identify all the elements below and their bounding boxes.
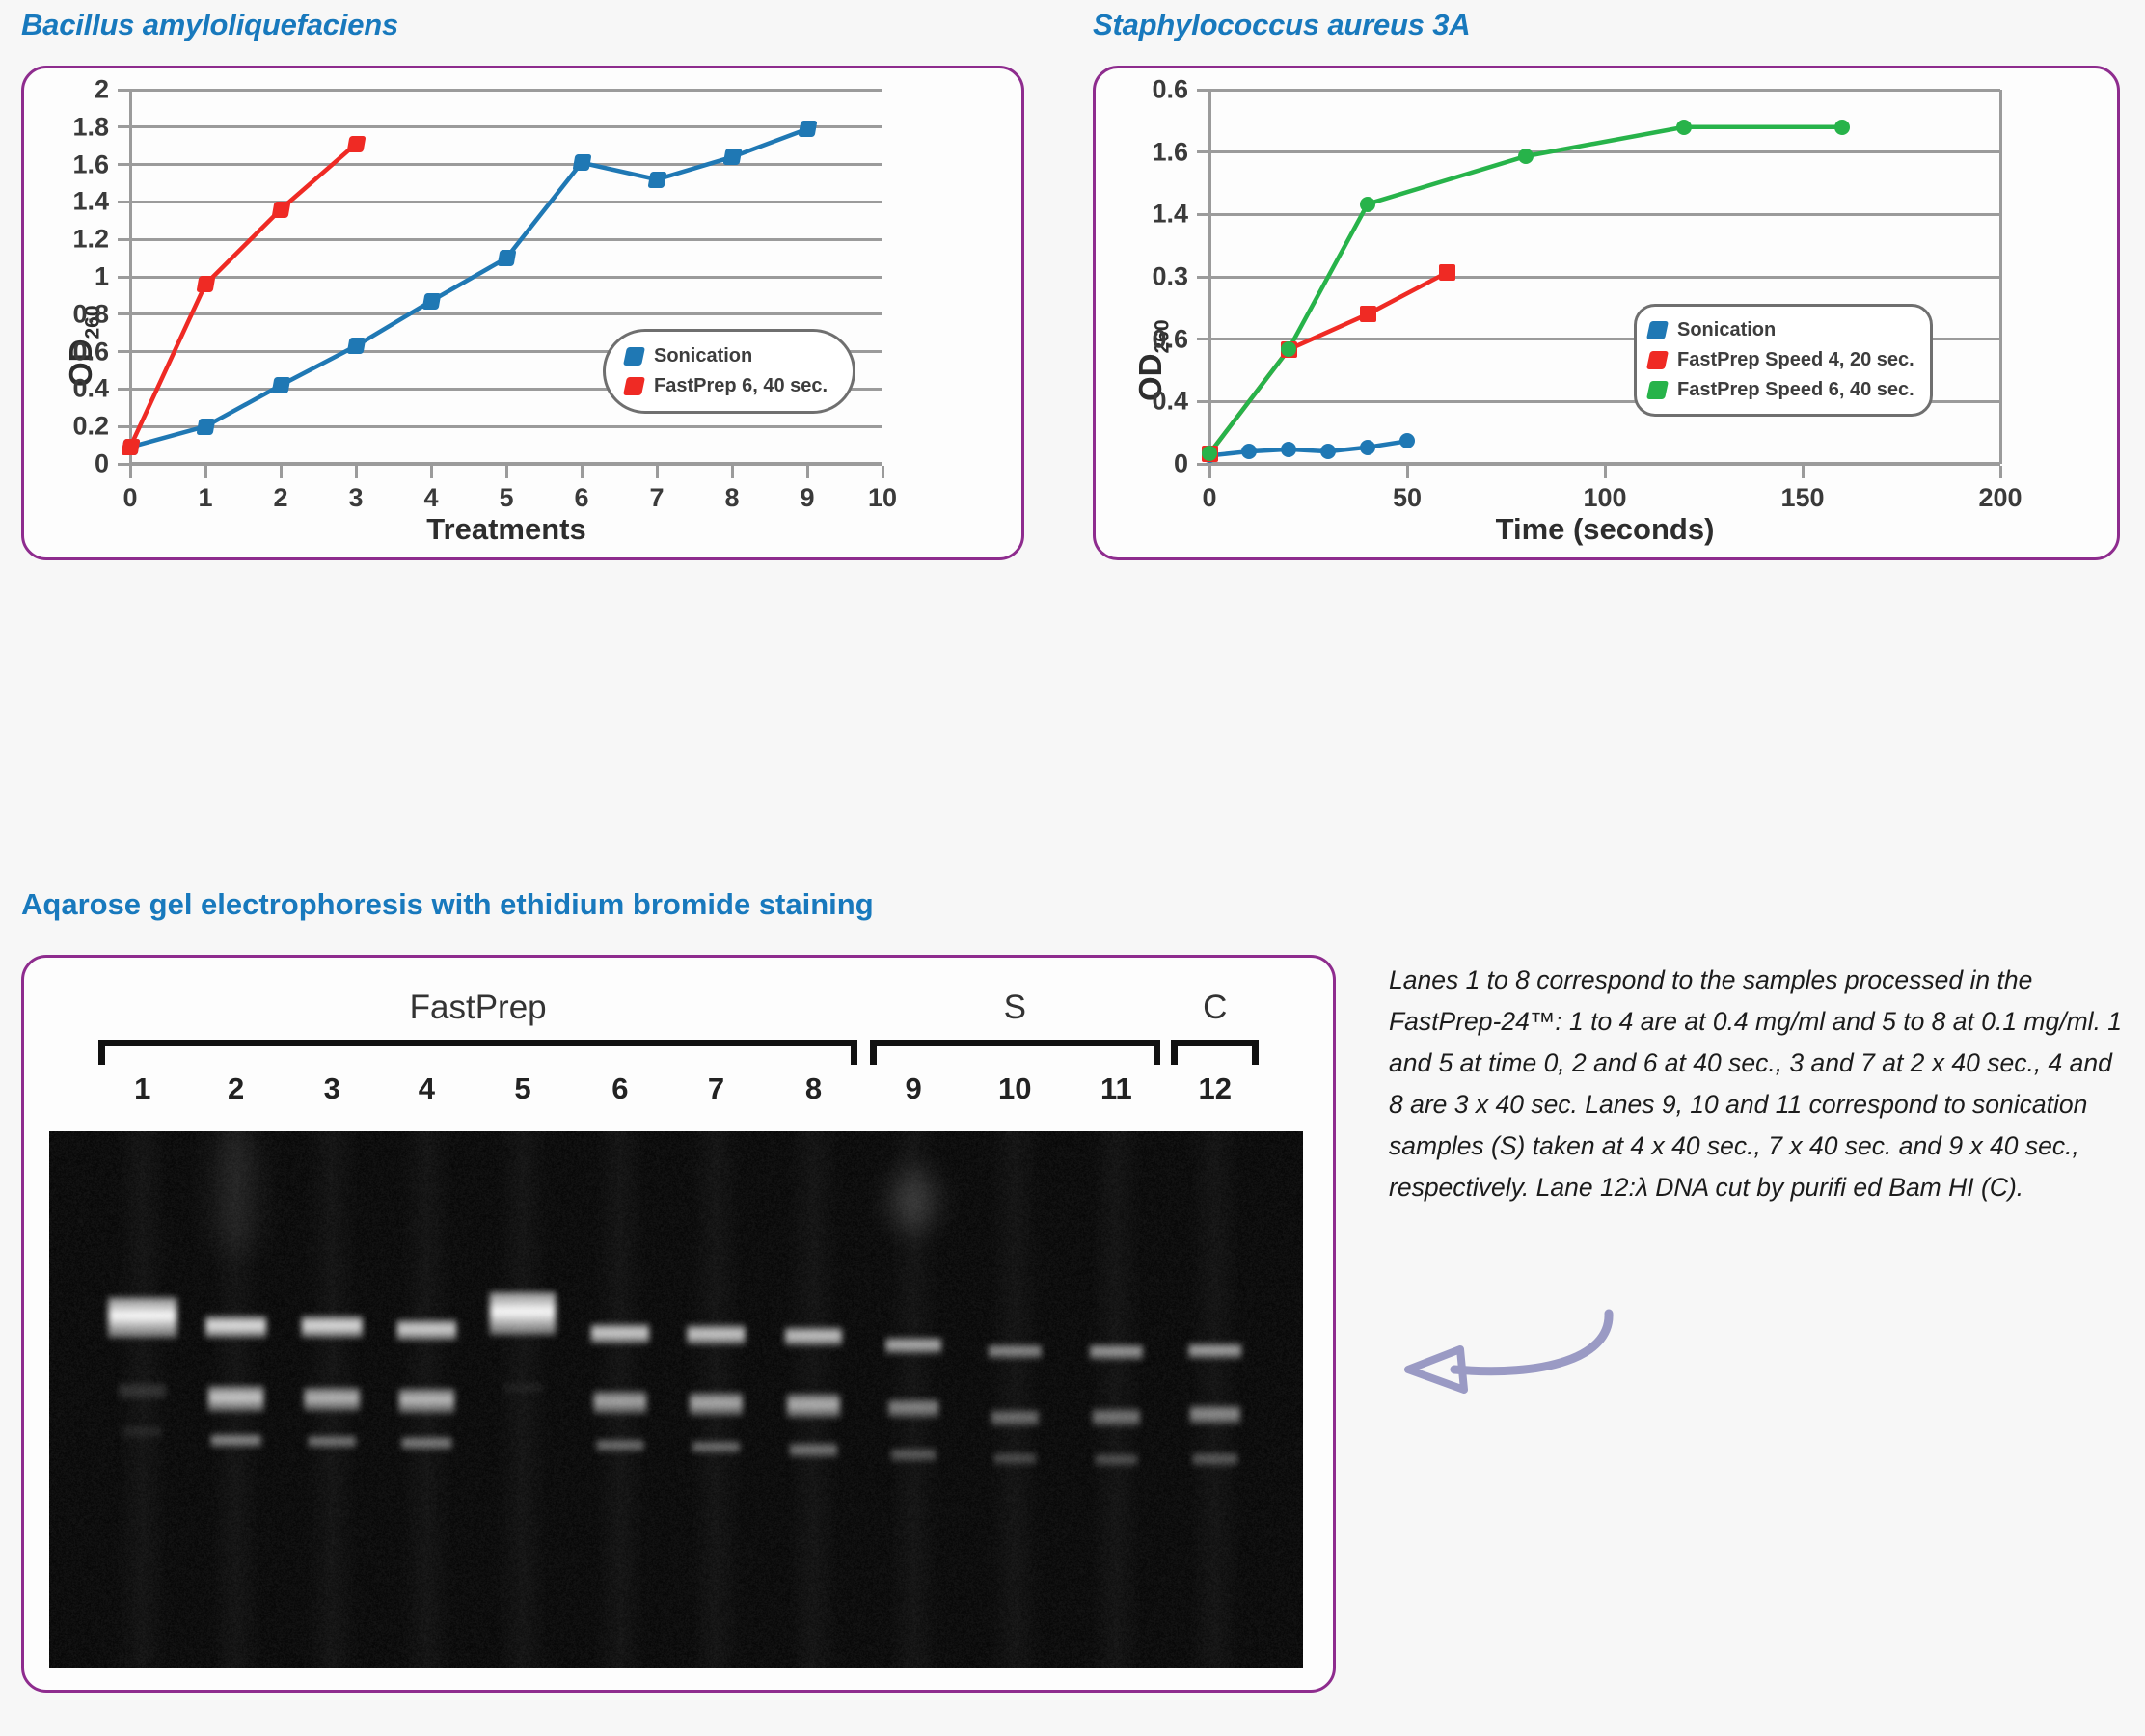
plot-area-left: 00.20.40.60.811.21.41.61.82012345678910S… <box>130 90 882 464</box>
gel-group-bracket <box>1171 1040 1259 1065</box>
x-tick-mark <box>806 466 809 478</box>
data-point <box>1834 120 1850 135</box>
gel-lane-number: 2 <box>228 1071 244 1106</box>
chart-card-staphylococcus: OD260 00.40.60.31.41.60.6050100150200Son… <box>1093 66 2120 560</box>
chart-staphylococcus: OD260 00.40.60.31.41.60.6050100150200Son… <box>1096 68 2117 557</box>
gel-lane-number: 7 <box>708 1071 724 1106</box>
panel-title-staphylococcus: Staphylococcus aureus 3A <box>1093 8 1470 42</box>
x-tick-label: 3 <box>348 483 363 513</box>
data-point <box>798 121 817 137</box>
data-point <box>196 276 215 292</box>
y-tick-label: 0.6 <box>1092 324 1188 354</box>
data-point <box>497 250 516 266</box>
x-tick-mark <box>129 466 132 478</box>
data-point <box>1676 120 1692 135</box>
y-tick-label: 1.2 <box>13 225 109 255</box>
x-tick-label: 0 <box>1202 483 1216 513</box>
y-tick-label: 0.4 <box>1092 387 1188 417</box>
data-point <box>346 338 366 354</box>
legend-swatch-icon <box>1646 381 1669 399</box>
data-point <box>346 136 366 152</box>
data-point <box>196 419 215 435</box>
x-tick-label: 2 <box>273 483 287 513</box>
legend-swatch-icon <box>623 347 645 366</box>
legend-swatch-icon <box>1646 321 1669 339</box>
gel-group-bracket <box>98 1040 857 1065</box>
legend-row: Sonication <box>1648 315 1914 345</box>
gel-lane-number: 6 <box>611 1071 628 1106</box>
legend-row: FastPrep 6, 40 sec. <box>625 371 828 401</box>
series-line-1 <box>130 144 356 447</box>
y-tick-label: 0.2 <box>13 412 109 442</box>
data-point <box>421 293 441 310</box>
x-tick-mark <box>204 466 207 478</box>
series-line-1 <box>1209 273 1447 454</box>
data-point <box>1320 444 1336 459</box>
gel-lane-number: 8 <box>805 1071 822 1106</box>
legend-row: Sonication <box>625 341 828 371</box>
gel-group-label: S <box>1004 989 1026 1027</box>
legend-label: FastPrep Speed 6, 40 sec. <box>1677 375 1914 405</box>
x-tick-label: 6 <box>574 483 588 513</box>
y-tick-label: 0.6 <box>13 337 109 366</box>
x-tick-mark <box>731 466 734 478</box>
series-line-0 <box>1209 441 1407 455</box>
data-point <box>1360 440 1375 455</box>
gel-lane-number: 12 <box>1198 1071 1231 1106</box>
gel-canvas <box>49 1131 1303 1668</box>
gel-group-label: FastPrep <box>410 989 547 1027</box>
y-tick-label: 0 <box>1092 449 1188 479</box>
y-tick-label: 1.8 <box>13 112 109 142</box>
x-tick-label: 4 <box>423 483 438 513</box>
plot-area-right: 00.40.60.31.41.60.6050100150200Sonicatio… <box>1209 90 2000 464</box>
data-point <box>1518 149 1534 164</box>
gel-card: 123456789101112FastPrepSC <box>21 955 1336 1693</box>
chart-card-bacillus: OD260 00.20.40.60.811.21.41.61.820123456… <box>21 66 1024 560</box>
gel-lane-number: 10 <box>998 1071 1031 1106</box>
legend-label: FastPrep Speed 4, 20 sec. <box>1677 345 1914 375</box>
y-tick-label: 1.6 <box>1092 137 1188 167</box>
chart-legend: SonicationFastPrep Speed 4, 20 sec.FastP… <box>1634 304 1933 417</box>
y-tick-label: 0.6 <box>1092 75 1188 105</box>
chart-legend: SonicationFastPrep 6, 40 sec. <box>603 329 855 414</box>
data-point <box>271 202 290 218</box>
gel-electrophoresis-image <box>49 1131 1303 1668</box>
gel-caption: Lanes 1 to 8 correspond to the samples p… <box>1389 960 2131 1208</box>
data-point <box>1241 444 1257 459</box>
x-tick-mark <box>581 466 584 478</box>
gel-group-label: C <box>1203 989 1227 1027</box>
x-tick-label: 10 <box>868 483 897 513</box>
x-axis-title-right: Time (seconds) <box>1209 512 2000 547</box>
y-tick-label: 1.4 <box>1092 200 1188 230</box>
x-tick-mark <box>505 466 508 478</box>
x-tick-label: 8 <box>724 483 739 513</box>
x-axis-title-left: Treatments <box>130 512 882 547</box>
y-tick-label: 0 <box>13 449 109 479</box>
data-point <box>572 154 591 171</box>
legend-label: FastPrep 6, 40 sec. <box>654 371 828 401</box>
x-tick-label: 1 <box>198 483 212 513</box>
gel-lane-number: 11 <box>1100 1071 1132 1106</box>
x-tick-label: 100 <box>1583 483 1626 513</box>
legend-row: FastPrep Speed 4, 20 sec. <box>1648 345 1914 375</box>
x-tick-mark <box>656 466 659 478</box>
x-tick-label: 0 <box>122 483 137 513</box>
panel-title-bacillus: Bacillus amyloliquefaciens <box>21 8 398 42</box>
x-tick-mark <box>1208 466 1211 478</box>
x-tick-mark <box>280 466 283 478</box>
y-tick-label: 0.4 <box>13 374 109 404</box>
x-tick-label: 150 <box>1780 483 1824 513</box>
data-point <box>647 172 666 188</box>
y-tick-label: 0.3 <box>1092 262 1188 292</box>
gel-lane-number: 5 <box>514 1071 530 1106</box>
data-point <box>1360 197 1375 212</box>
x-tick-label: 200 <box>1978 483 2022 513</box>
gel-lane-number: 4 <box>419 1071 435 1106</box>
x-tick-label: 7 <box>649 483 664 513</box>
y-tick-label: 1 <box>13 262 109 292</box>
gel-group-bracket <box>870 1040 1160 1065</box>
data-point <box>1439 264 1455 281</box>
data-point <box>1281 442 1296 457</box>
x-tick-mark <box>1999 466 2002 478</box>
x-tick-mark <box>430 466 433 478</box>
x-tick-label: 50 <box>1393 483 1422 513</box>
y-tick-label: 1.6 <box>13 149 109 179</box>
legend-label: Sonication <box>1677 315 1776 345</box>
x-tick-mark <box>1604 466 1607 478</box>
x-tick-label: 5 <box>499 483 513 513</box>
gel-lane-number: 1 <box>134 1071 150 1106</box>
data-point <box>1360 306 1376 322</box>
curved-arrow-icon <box>1379 1273 1697 1398</box>
x-tick-mark <box>882 466 884 478</box>
data-point <box>722 149 742 165</box>
x-tick-mark <box>355 466 358 478</box>
x-tick-mark <box>1406 466 1409 478</box>
gel-section-title: Aqarose gel electrophoresis with ethidiu… <box>21 887 874 922</box>
legend-swatch-icon <box>1646 351 1669 369</box>
y-tick-label: 0.8 <box>13 299 109 329</box>
chart-bacillus: OD260 00.20.40.60.811.21.41.61.820123456… <box>24 68 1021 557</box>
x-tick-label: 9 <box>800 483 814 513</box>
legend-swatch-icon <box>623 377 645 395</box>
y-tick-label: 2 <box>13 75 109 105</box>
legend-label: Sonication <box>654 341 752 371</box>
data-point <box>271 377 290 393</box>
gel-lane-number: 9 <box>906 1071 922 1106</box>
x-tick-mark <box>1802 466 1805 478</box>
legend-row: FastPrep Speed 6, 40 sec. <box>1648 375 1914 405</box>
data-point <box>121 439 140 455</box>
gel-lane-number: 3 <box>324 1071 340 1106</box>
y-tick-label: 1.4 <box>13 187 109 217</box>
